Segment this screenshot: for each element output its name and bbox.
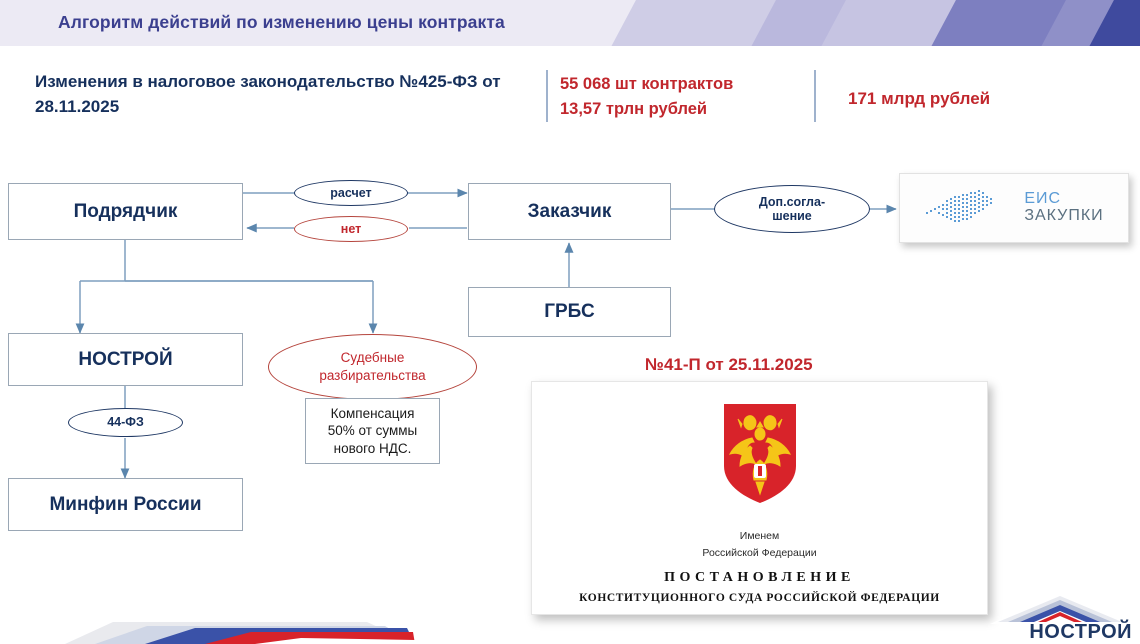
label-litigation-text: Судебные разбирательства	[319, 349, 425, 384]
node-grbs[interactable]: ГРБС	[468, 287, 671, 337]
label-supplementary-agreement[interactable]: Доп.согла- шение	[714, 185, 870, 233]
label-no-text: нет	[341, 222, 361, 236]
node-customer-label: Заказчик	[528, 201, 612, 223]
document-federation: Российской Федерации	[532, 545, 987, 562]
russia-map-icon	[924, 186, 1016, 230]
document-in-name-block: Именем Российской Федерации	[532, 528, 987, 563]
document-number: №41-П от 25.11.2025	[645, 355, 813, 375]
document-in-name-of: Именем	[532, 528, 987, 545]
nostroy-brand-text: НОСТРОЙ	[1029, 621, 1132, 644]
node-nostroy-label: НОСТРОЙ	[78, 349, 172, 371]
label-calculation-text: расчет	[330, 186, 371, 200]
eis-label-line2: ЗАКУПКИ	[1024, 208, 1103, 225]
node-minfin[interactable]: Минфин России	[8, 478, 243, 531]
label-no[interactable]: нет	[294, 216, 408, 242]
label-supplementary-agreement-text: Доп.согла- шение	[759, 195, 825, 224]
node-customer[interactable]: Заказчик	[468, 183, 671, 240]
eis-label-line1: ЕИС	[1024, 191, 1103, 208]
node-grbs-label: ГРБС	[544, 301, 595, 323]
eis-text-block: ЕИС ЗАКУПКИ	[1024, 191, 1103, 225]
node-minfin-label: Минфин России	[49, 494, 201, 516]
russian-coat-of-arms-icon	[720, 402, 800, 506]
court-document-card[interactable]: Именем Российской Федерации ПОСТАНОВЛЕНИ…	[531, 381, 988, 615]
eis-zakupki-card[interactable]: ЕИС ЗАКУПКИ	[899, 173, 1129, 243]
node-contractor[interactable]: Подрядчик	[8, 183, 243, 240]
node-contractor-label: Подрядчик	[74, 201, 178, 223]
box-compensation-text: Компенсация 50% от суммы нового НДС.	[328, 405, 418, 458]
label-44fz-text: 44-ФЗ	[107, 415, 144, 429]
footer-flag-ribbon	[55, 602, 415, 644]
label-litigation[interactable]: Судебные разбирательства	[268, 334, 477, 400]
box-compensation[interactable]: Компенсация 50% от суммы нового НДС.	[305, 398, 440, 464]
node-nostroy[interactable]: НОСТРОЙ	[8, 333, 243, 386]
document-court-name: КОНСТИТУЦИОННОГО СУДА РОССИЙСКОЙ ФЕДЕРАЦ…	[532, 592, 987, 604]
document-resolution-heading: ПОСТАНОВЛЕНИЕ	[532, 570, 987, 586]
label-44fz[interactable]: 44-ФЗ	[68, 408, 183, 437]
label-calculation[interactable]: расчет	[294, 180, 408, 206]
